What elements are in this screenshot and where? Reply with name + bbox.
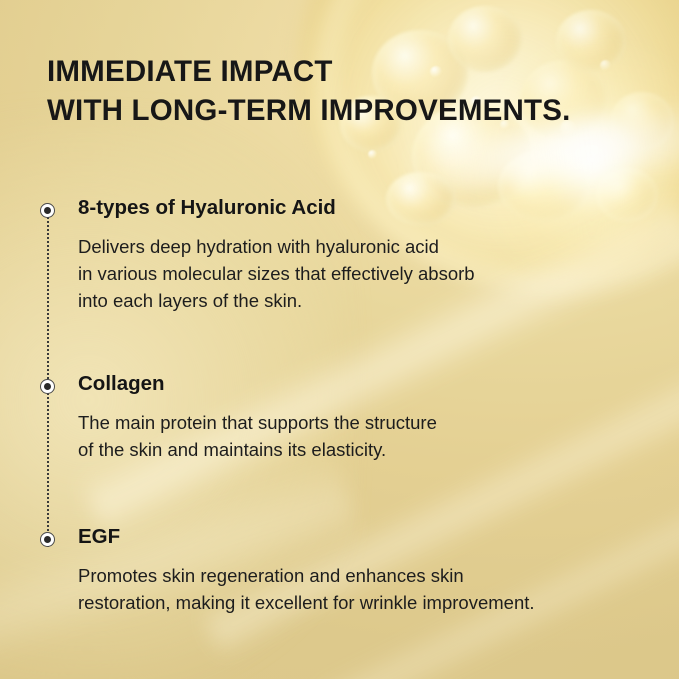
- poster-content: IMMEDIATE IMPACT WITH LONG-TERM IMPROVEM…: [0, 0, 679, 679]
- benefit-title: 8-types of Hyaluronic Acid: [78, 196, 475, 221]
- benefit-item-1: 8-types of Hyaluronic Acid Delivers deep…: [40, 196, 475, 315]
- benefit-description: Delivers deep hydration with hyaluronic …: [78, 233, 475, 315]
- benefit-description: Promotes skin regeneration and enhances …: [78, 562, 535, 617]
- bullet-dot-icon: [40, 379, 55, 394]
- page-title: IMMEDIATE IMPACT WITH LONG-TERM IMPROVEM…: [47, 52, 570, 130]
- benefit-item-2: Collagen The main protein that supports …: [40, 372, 437, 463]
- bullet-dot-icon: [40, 203, 55, 218]
- benefit-description: The main protein that supports the struc…: [78, 409, 437, 464]
- benefit-title: EGF: [78, 525, 535, 550]
- benefit-title: Collagen: [78, 372, 437, 397]
- product-benefits-poster: IMMEDIATE IMPACT WITH LONG-TERM IMPROVEM…: [0, 0, 679, 679]
- bullet-dot-icon: [40, 532, 55, 547]
- benefit-item-3: EGF Promotes skin regeneration and enhan…: [40, 525, 535, 616]
